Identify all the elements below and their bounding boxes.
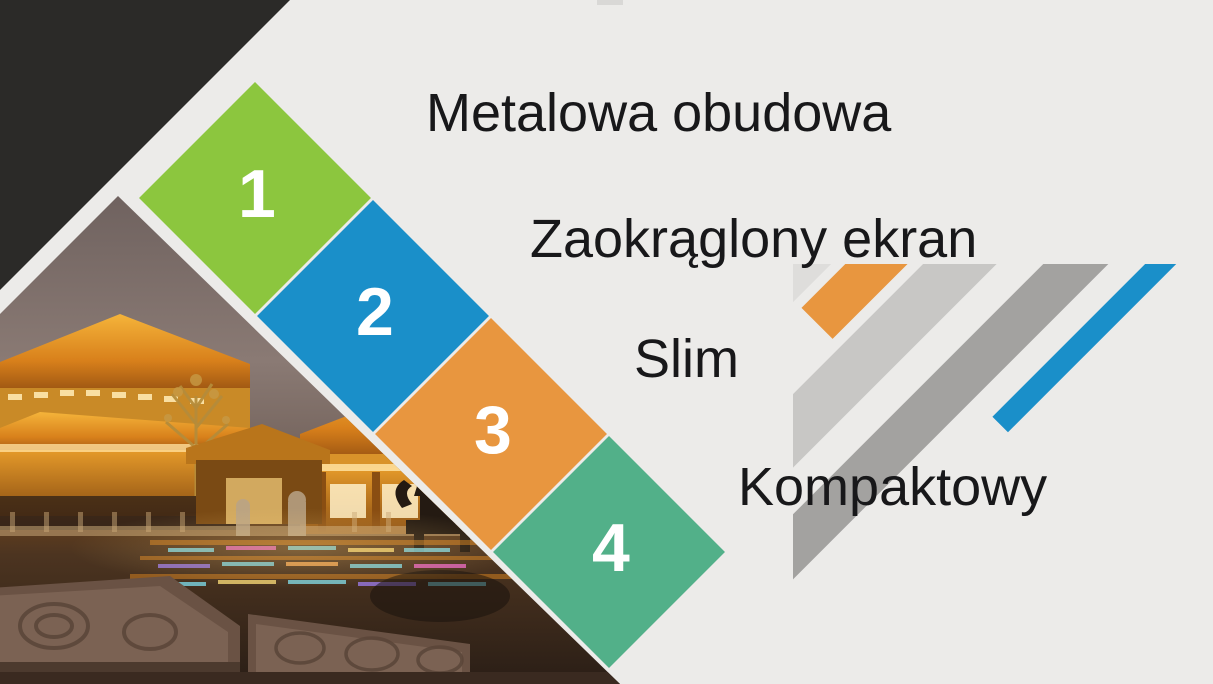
stripe-blue — [992, 264, 1213, 432]
feature-label-1: Metalowa obudowa — [426, 82, 891, 144]
feature-label-4: Kompaktowy — [738, 456, 1047, 518]
diamond-3-number: 3 — [474, 396, 512, 464]
diamond-2-number: 2 — [356, 278, 394, 346]
feature-label-2: Zaokrąglony ekran — [530, 208, 977, 270]
stripe-grey-light — [793, 264, 1109, 604]
diamond-1-number: 1 — [238, 160, 276, 228]
cutoff-mark — [597, 0, 623, 5]
diamond-4-number: 4 — [592, 514, 630, 582]
stripe-orange — [801, 264, 1065, 339]
feature-label-3: Slim — [634, 328, 739, 390]
slide-canvas: Cechy 1 2 3 4 Metalowa obudowa Zaokrąglo… — [0, 0, 1213, 684]
